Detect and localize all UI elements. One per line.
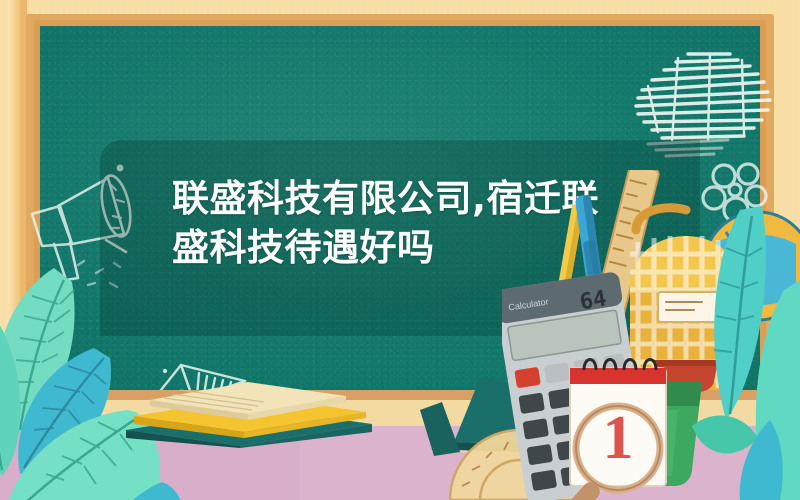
book-stack-left xyxy=(120,358,380,448)
magnifying-glass: 1 xyxy=(560,348,700,500)
cover-image-canvas: 联盛科技有限公司,宿迁联 盛科技待遇好吗 xyxy=(0,0,800,500)
calculator-display: 64 xyxy=(578,286,608,315)
